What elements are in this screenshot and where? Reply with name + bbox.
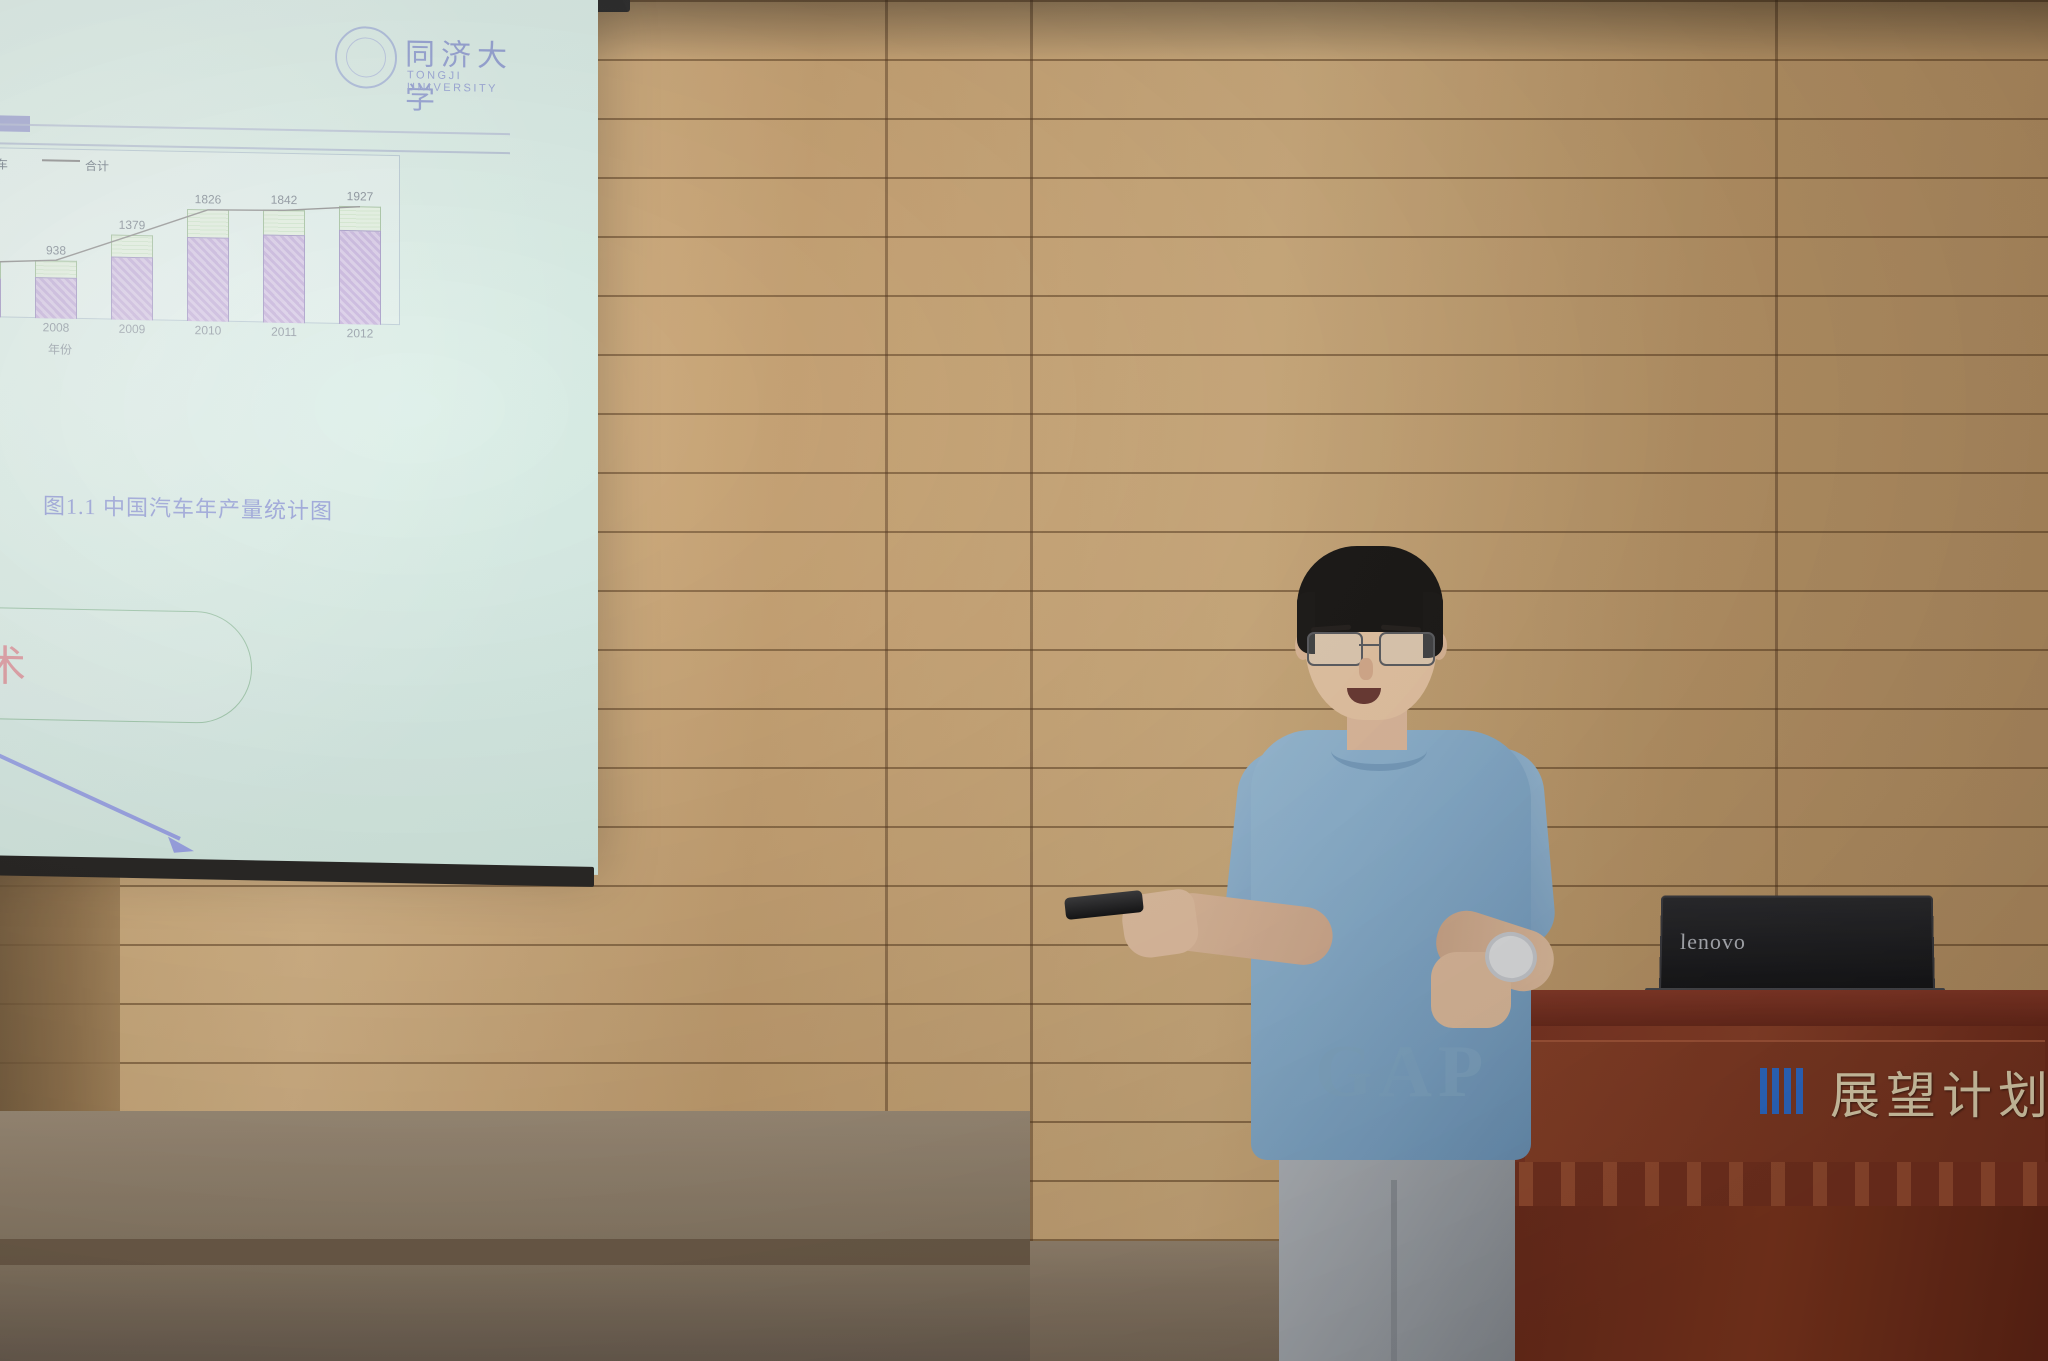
legend-label-total: 合计 (85, 159, 109, 173)
podium-brand-label: 展望计划 (1830, 1056, 2048, 1128)
baseboard (0, 1239, 1030, 1265)
blue-bars-logo-icon (1760, 1068, 1806, 1114)
legend-item-commercial: 商用车 (0, 154, 8, 173)
laptop-brand-label: lenovo (1680, 929, 1746, 955)
laptop: lenovo (1659, 896, 1936, 1000)
legend-swatch-total (42, 160, 80, 174)
university-logo: 同济大学 TONGJI UNIVERSITY (335, 22, 535, 106)
legend-item-total: 合计 (42, 156, 109, 174)
wall-seam (1030, 0, 1033, 1361)
university-seal-icon (335, 26, 397, 89)
topic-oval (0, 601, 252, 725)
header-rule (0, 120, 510, 136)
x-tick-2009: 2009 (119, 322, 146, 337)
x-tick-2012: 2012 (347, 326, 374, 341)
photo-scene: 同济大学 TONGJI UNIVERSITY 乘用车 商用车 合计 576722… (0, 0, 2048, 1361)
floor-left (0, 1111, 1030, 1361)
x-tick-2010: 2010 (195, 323, 222, 338)
topic-oval-label: 排的柴油机技术 (0, 627, 28, 694)
presenter-nose (1359, 658, 1373, 680)
slide-content: 同济大学 TONGJI UNIVERSITY 乘用车 商用车 合计 576722… (0, 0, 598, 875)
x-tick-2008: 2008 (43, 320, 70, 335)
screen-surface: 同济大学 TONGJI UNIVERSITY 乘用车 商用车 合计 576722… (0, 0, 598, 875)
projection-screen: 同济大学 TONGJI UNIVERSITY 乘用车 商用车 合计 576722… (0, 0, 670, 892)
header-accent-bar (0, 112, 30, 132)
presenter: GAP (1235, 540, 1635, 1361)
x-axis-title: 年份 (48, 340, 72, 357)
x-tick-2011: 2011 (271, 325, 297, 339)
legend-label-commercial: 商用车 (0, 157, 8, 172)
figure-caption: 图1.1 中国汽车年产量统计图 (0, 486, 468, 529)
branch-arrows (0, 701, 420, 875)
total-trend-line (0, 185, 398, 323)
presenter-hair (1297, 546, 1443, 632)
presenter-pants (1279, 1140, 1515, 1361)
production-chart: 乘用车 商用车 合计 5767228799381379182618421927 … (0, 143, 400, 345)
shirt-brand-text: GAP (1315, 1030, 1489, 1115)
university-name-en: TONGJI UNIVERSITY (407, 69, 535, 95)
pants-seam (1391, 1180, 1397, 1361)
glasses-icon (1301, 632, 1441, 662)
